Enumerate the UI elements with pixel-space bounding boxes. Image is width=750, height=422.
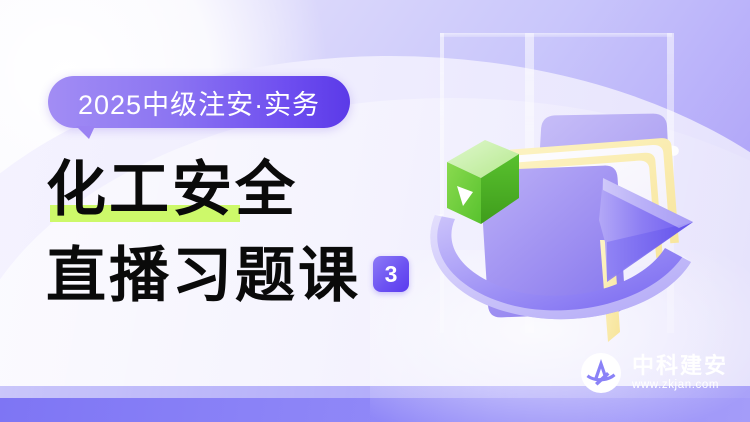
brand-logo[interactable]: 中科建安 www.zkjan.com [580,352,728,394]
title-line-2: 直播习题课 [46,246,361,306]
text-content: 2025中级注安·实务 化工安全 直播习题课 3 [0,0,470,422]
episode-badge: 3 [373,256,409,292]
title-line-2-row: 直播习题课 3 [46,246,409,306]
course-badge: 2025中级注安·实务 [48,76,350,128]
brand-name: 中科建安 [632,355,728,377]
logo-text-group: 中科建安 www.zkjan.com [632,355,728,392]
zkjan-circle-logo-icon [580,352,622,394]
title-line-1-row: 化工安全 [46,160,409,220]
page-title: 化工安全 直播习题课 3 [46,160,409,306]
brand-website: www.zkjan.com [632,380,728,392]
course-banner: 2025中级注安·实务 化工安全 直播习题课 3 中科建安 www.zkjan.… [0,0,750,422]
badge-tail [76,126,95,139]
title-line-1: 化工安全 [46,160,298,220]
course-badge-label: 2025中级注安·实务 [48,76,350,128]
